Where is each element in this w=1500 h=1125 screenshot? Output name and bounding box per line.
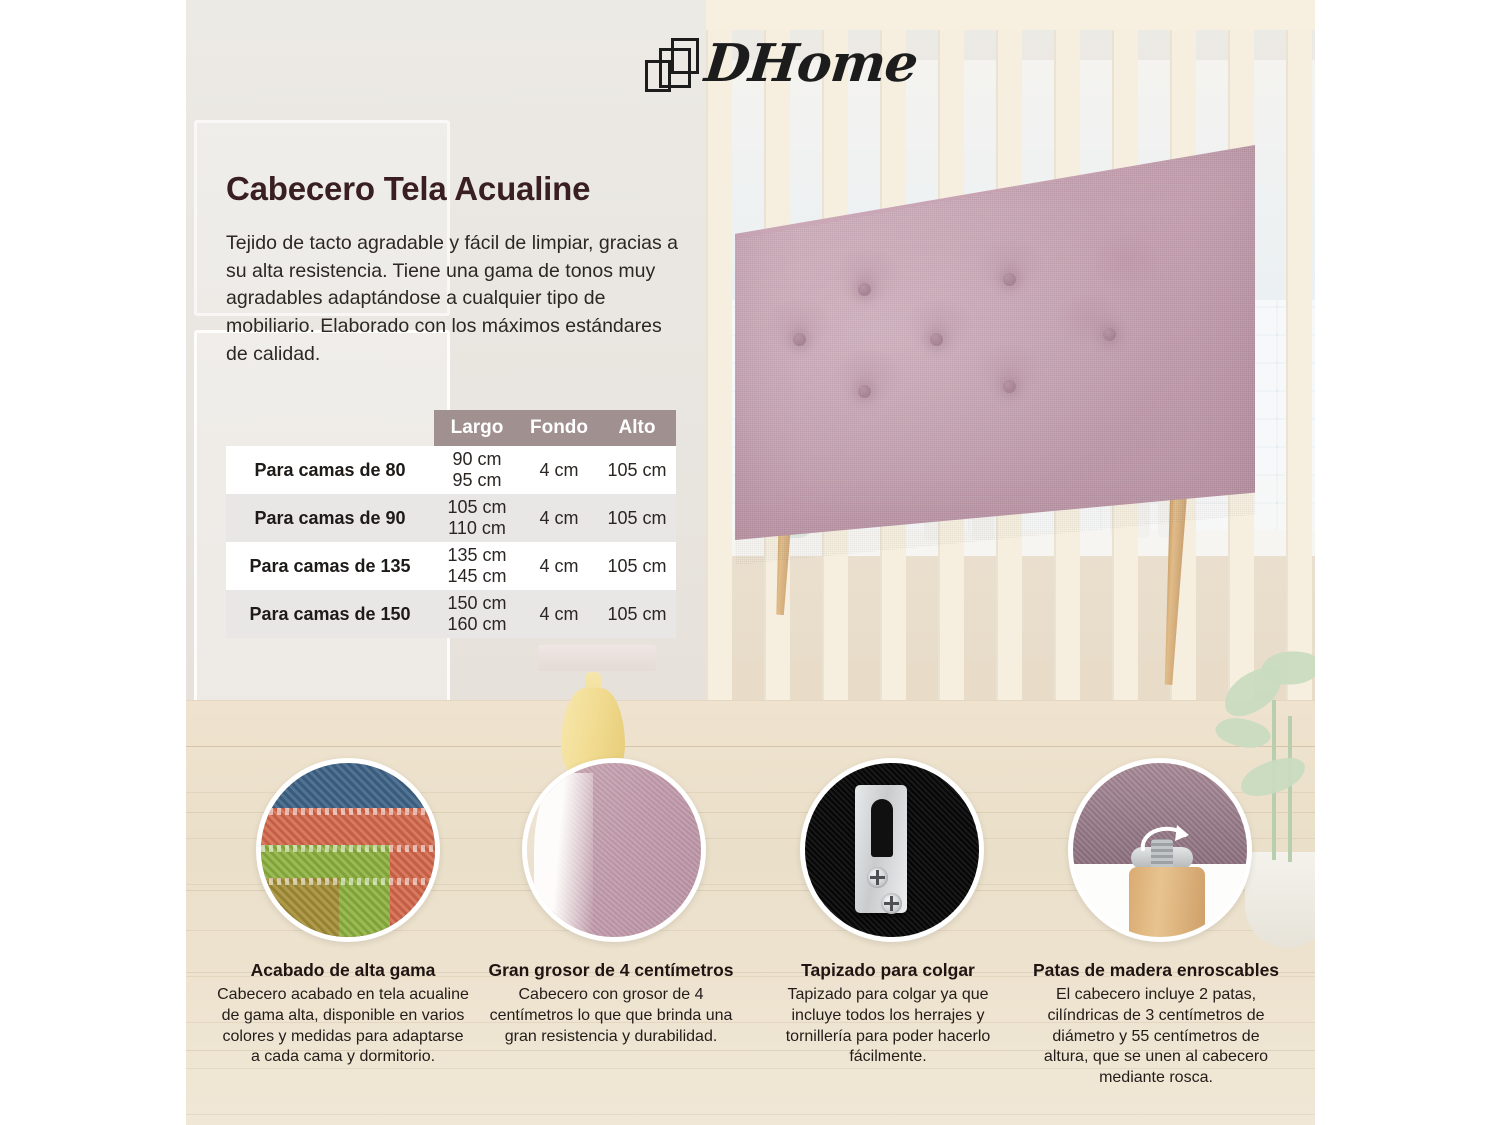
feature-body: Cabecero acabado en tela acualine de gam… xyxy=(217,985,469,1068)
column-header-fondo: Fondo xyxy=(520,417,598,439)
dhome-squares-logo-icon xyxy=(645,38,693,90)
table-header-row: Largo Fondo Alto xyxy=(434,410,676,446)
wall-bracket-icon xyxy=(800,758,984,942)
row-label: Para camas de 80 xyxy=(226,460,434,481)
page-title: Cabecero Tela Acualine xyxy=(226,170,590,208)
tufting-button xyxy=(930,333,943,346)
cell-alto: 105 cm xyxy=(598,604,676,625)
cell-alto: 105 cm xyxy=(598,508,676,529)
cell-alto: 105 cm xyxy=(598,556,676,577)
cell-fondo: 4 cm xyxy=(520,556,598,577)
feature-body: El cabecero incluye 2 patas, cilíndricas… xyxy=(1030,985,1282,1089)
tufting-button xyxy=(858,283,871,296)
table-row: Para camas de 90 105 cm110 cm 4 cm 105 c… xyxy=(226,494,676,542)
row-label: Para camas de 150 xyxy=(226,604,434,625)
tufting-dimple xyxy=(905,300,975,354)
brand-name: DHome xyxy=(702,38,919,90)
tufting-button xyxy=(1003,273,1016,286)
cell-largo: 90 cm95 cm xyxy=(434,449,520,490)
tufting-button xyxy=(858,385,871,398)
feature-heading: Gran grosor de 4 centímetros xyxy=(485,960,737,981)
headboard-product-image xyxy=(735,145,1255,565)
screw-icon xyxy=(867,867,888,888)
tufting-button xyxy=(1003,380,1016,393)
slat-top-rail xyxy=(706,0,1315,30)
feature-text-4: Patas de madera enroscables El cabecero … xyxy=(1030,960,1282,1089)
table-row: Para camas de 80 90 cm95 cm 4 cm 105 cm xyxy=(226,446,676,494)
feature-heading: Patas de madera enroscables xyxy=(1030,960,1282,981)
brand-logo: DHome xyxy=(645,38,917,90)
tufting-dimple xyxy=(1055,295,1125,349)
tufting-dimple xyxy=(1090,237,1160,291)
cell-largo: 135 cm145 cm xyxy=(434,545,520,586)
column-header-alto: Alto xyxy=(598,417,676,439)
plant-stem xyxy=(1288,716,1292,862)
cell-largo: 150 cm160 cm xyxy=(434,593,520,634)
tufting-button xyxy=(793,333,806,346)
cell-fondo: 4 cm xyxy=(520,604,598,625)
fabric-swatches-icon xyxy=(256,758,440,942)
lamp-shade xyxy=(538,645,656,671)
dimensions-table: Largo Fondo Alto Para camas de 80 90 cm9… xyxy=(226,410,676,638)
rotation-arrow-icon xyxy=(1137,819,1193,853)
tufting-button xyxy=(1103,328,1116,341)
feature-heading: Acabado de alta gama xyxy=(217,960,469,981)
row-label: Para camas de 90 xyxy=(226,508,434,529)
table-row: Para camas de 150 150 cm160 cm 4 cm 105 … xyxy=(226,590,676,638)
screw-in-wooden-leg-icon xyxy=(1068,758,1252,942)
feature-heading: Tapizado para colgar xyxy=(762,960,1014,981)
fabric-thickness-icon xyxy=(522,758,706,942)
feature-body: Tapizado para colgar ya que incluye todo… xyxy=(762,985,1014,1068)
column-header-largo: Largo xyxy=(434,417,520,439)
right-margin xyxy=(1315,0,1500,1125)
feature-text-1: Acabado de alta gama Cabecero acabado en… xyxy=(217,960,469,1068)
feature-text-2: Gran grosor de 4 centímetros Cabecero co… xyxy=(485,960,737,1047)
row-label: Para camas de 135 xyxy=(226,556,434,577)
product-description: Tejido de tacto agradable y fácil de lim… xyxy=(226,230,682,368)
table-row: Para camas de 135 135 cm145 cm 4 cm 105 … xyxy=(226,542,676,590)
floor-plank-line xyxy=(186,746,1315,747)
cell-fondo: 4 cm xyxy=(520,460,598,481)
tufting-dimple xyxy=(833,250,903,304)
cell-largo: 105 cm110 cm xyxy=(434,497,520,538)
left-margin xyxy=(0,0,186,1125)
cell-alto: 105 cm xyxy=(598,460,676,481)
feature-body: Cabecero con grosor de 4 centímetros lo … xyxy=(485,985,737,1047)
infographic-page: DHome Cabecero Tela Acualine Tejido de t… xyxy=(0,0,1500,1125)
cell-fondo: 4 cm xyxy=(520,508,598,529)
feature-text-3: Tapizado para colgar Tapizado para colga… xyxy=(762,960,1014,1068)
screw-icon xyxy=(881,893,902,914)
